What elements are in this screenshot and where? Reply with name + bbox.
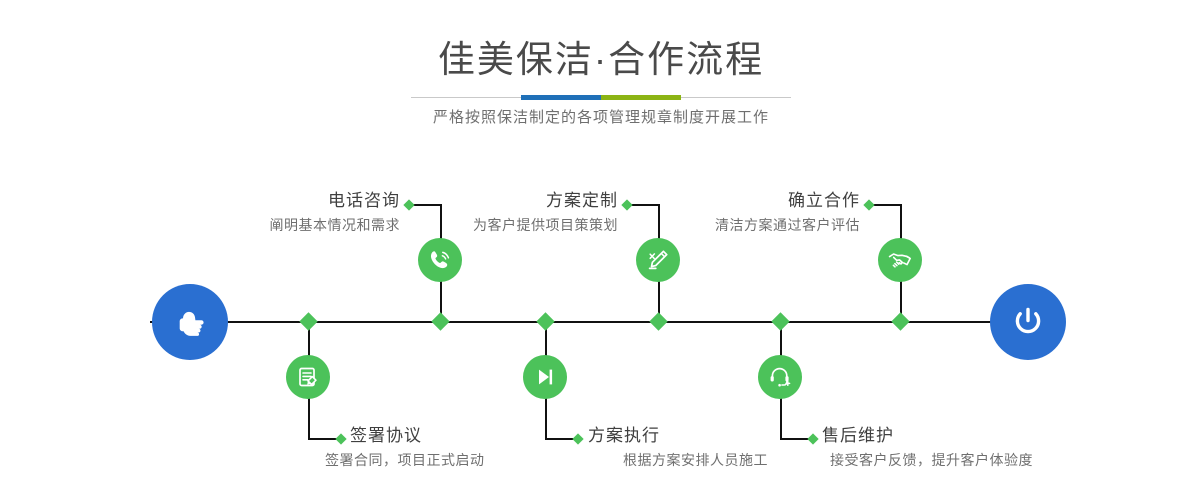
pointing-hand-icon — [170, 302, 210, 342]
step-title-1: 电话咨询 — [205, 190, 400, 212]
step-title-2: 签署协议 — [350, 425, 422, 447]
timeline-end-endpoint — [990, 284, 1066, 360]
step-icon-3 — [636, 238, 680, 282]
step-desc-2: 签署合同，项目正式启动 — [325, 450, 485, 470]
leader-dot-1 — [403, 199, 414, 210]
pencil-design-icon — [645, 247, 671, 273]
step-desc-5: 清洁方案通过客户评估 — [635, 215, 860, 235]
timeline-start-endpoint — [152, 284, 228, 360]
step-desc-1: 阐明基本情况和需求 — [175, 215, 400, 235]
step-icon-6 — [758, 355, 802, 399]
timeline-node-2 — [299, 312, 317, 330]
customer-support-icon — [767, 364, 793, 390]
leader-dot-6 — [807, 433, 818, 444]
step-title-4: 方案执行 — [588, 425, 660, 447]
page-subtitle: 严格按照保洁制定的各项管理规章制度开展工作 — [0, 106, 1202, 130]
connector-horizontal-3 — [629, 204, 660, 206]
contract-edit-icon — [295, 364, 321, 390]
step-icon-5 — [878, 238, 922, 282]
step-desc-6: 接受客户反馈，提升客户体验度 — [830, 450, 1033, 470]
step-icon-1 — [418, 238, 462, 282]
title-divider — [411, 95, 791, 101]
timeline-axis — [150, 321, 1052, 323]
step-title-6: 售后维护 — [822, 425, 894, 447]
timeline-node-4 — [536, 312, 554, 330]
leader-dot-2 — [335, 433, 346, 444]
step-title-3: 方案定制 — [423, 190, 618, 212]
timeline-node-3 — [649, 312, 667, 330]
phone-call-icon — [427, 247, 453, 273]
step-title-5: 确立合作 — [665, 190, 860, 212]
step-desc-3: 为客户提供项目策策划 — [393, 215, 618, 235]
timeline-node-1 — [431, 312, 449, 330]
timeline-node-5 — [891, 312, 909, 330]
connector-horizontal-5 — [871, 204, 902, 206]
power-icon — [1007, 301, 1049, 343]
leader-dot-3 — [621, 199, 632, 210]
step-icon-2 — [286, 355, 330, 399]
timeline-node-6 — [771, 312, 789, 330]
step-icon-4 — [523, 355, 567, 399]
page-title: 佳美保洁·合作流程 — [0, 36, 1202, 84]
connector-horizontal-1 — [411, 204, 442, 206]
divider-segment-blue — [521, 95, 601, 100]
divider-segment-olive — [601, 95, 681, 100]
step-desc-4: 根据方案安排人员施工 — [623, 450, 768, 470]
play-skip-icon — [532, 364, 558, 390]
leader-dot-4 — [572, 433, 583, 444]
cooperation-process-infographic: 佳美保洁·合作流程 严格按照保洁制定的各项管理规章制度开展工作 — [0, 0, 1202, 502]
leader-dot-5 — [863, 199, 874, 210]
handshake-icon — [887, 247, 913, 273]
